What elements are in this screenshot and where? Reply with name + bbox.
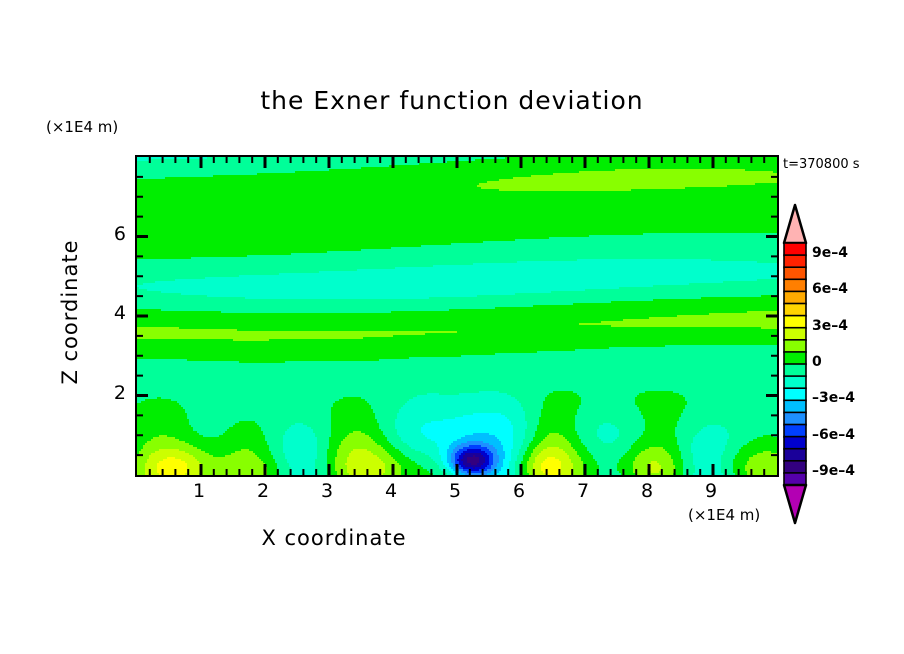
x-tick-label: 6 bbox=[499, 480, 539, 502]
y-tick-label: 2 bbox=[86, 382, 126, 404]
colorbar-tick-label: –6e–4 bbox=[812, 427, 855, 443]
contour-field bbox=[137, 157, 777, 475]
colorbar-tick-label: –9e–4 bbox=[812, 463, 855, 479]
x-tick-label: 2 bbox=[243, 480, 283, 502]
x-tick-label: 9 bbox=[691, 480, 731, 502]
contour-plot-area bbox=[135, 155, 779, 477]
y-axis-label: Z coordinate bbox=[58, 182, 82, 442]
x-tick-label: 5 bbox=[435, 480, 475, 502]
colorbar-tick-label: 3e–4 bbox=[812, 318, 848, 334]
x-tick-label: 4 bbox=[371, 480, 411, 502]
x-tick-label: 1 bbox=[179, 480, 219, 502]
timestamp-label: t=370800 s bbox=[783, 157, 860, 172]
colorbar-tick-label: 0 bbox=[812, 354, 822, 370]
colorbar-tick-label: –3e–4 bbox=[812, 390, 855, 406]
y-tick-label: 6 bbox=[86, 223, 126, 245]
x-axis-label: X coordinate bbox=[0, 526, 668, 550]
x-tick-label: 3 bbox=[307, 480, 347, 502]
y-axis-unit-label: (×1E4 m) bbox=[46, 118, 118, 136]
chart-title: the Exner function deviation bbox=[0, 86, 904, 115]
x-tick-label: 8 bbox=[627, 480, 667, 502]
x-tick-label: 7 bbox=[563, 480, 603, 502]
y-tick-label: 4 bbox=[86, 302, 126, 324]
colorbar bbox=[781, 203, 809, 525]
colorbar-tick-label: 9e–4 bbox=[812, 245, 848, 261]
colorbar-tick-label: 6e–4 bbox=[812, 281, 848, 297]
x-axis-unit-label: (×1E4 m) bbox=[688, 506, 760, 524]
